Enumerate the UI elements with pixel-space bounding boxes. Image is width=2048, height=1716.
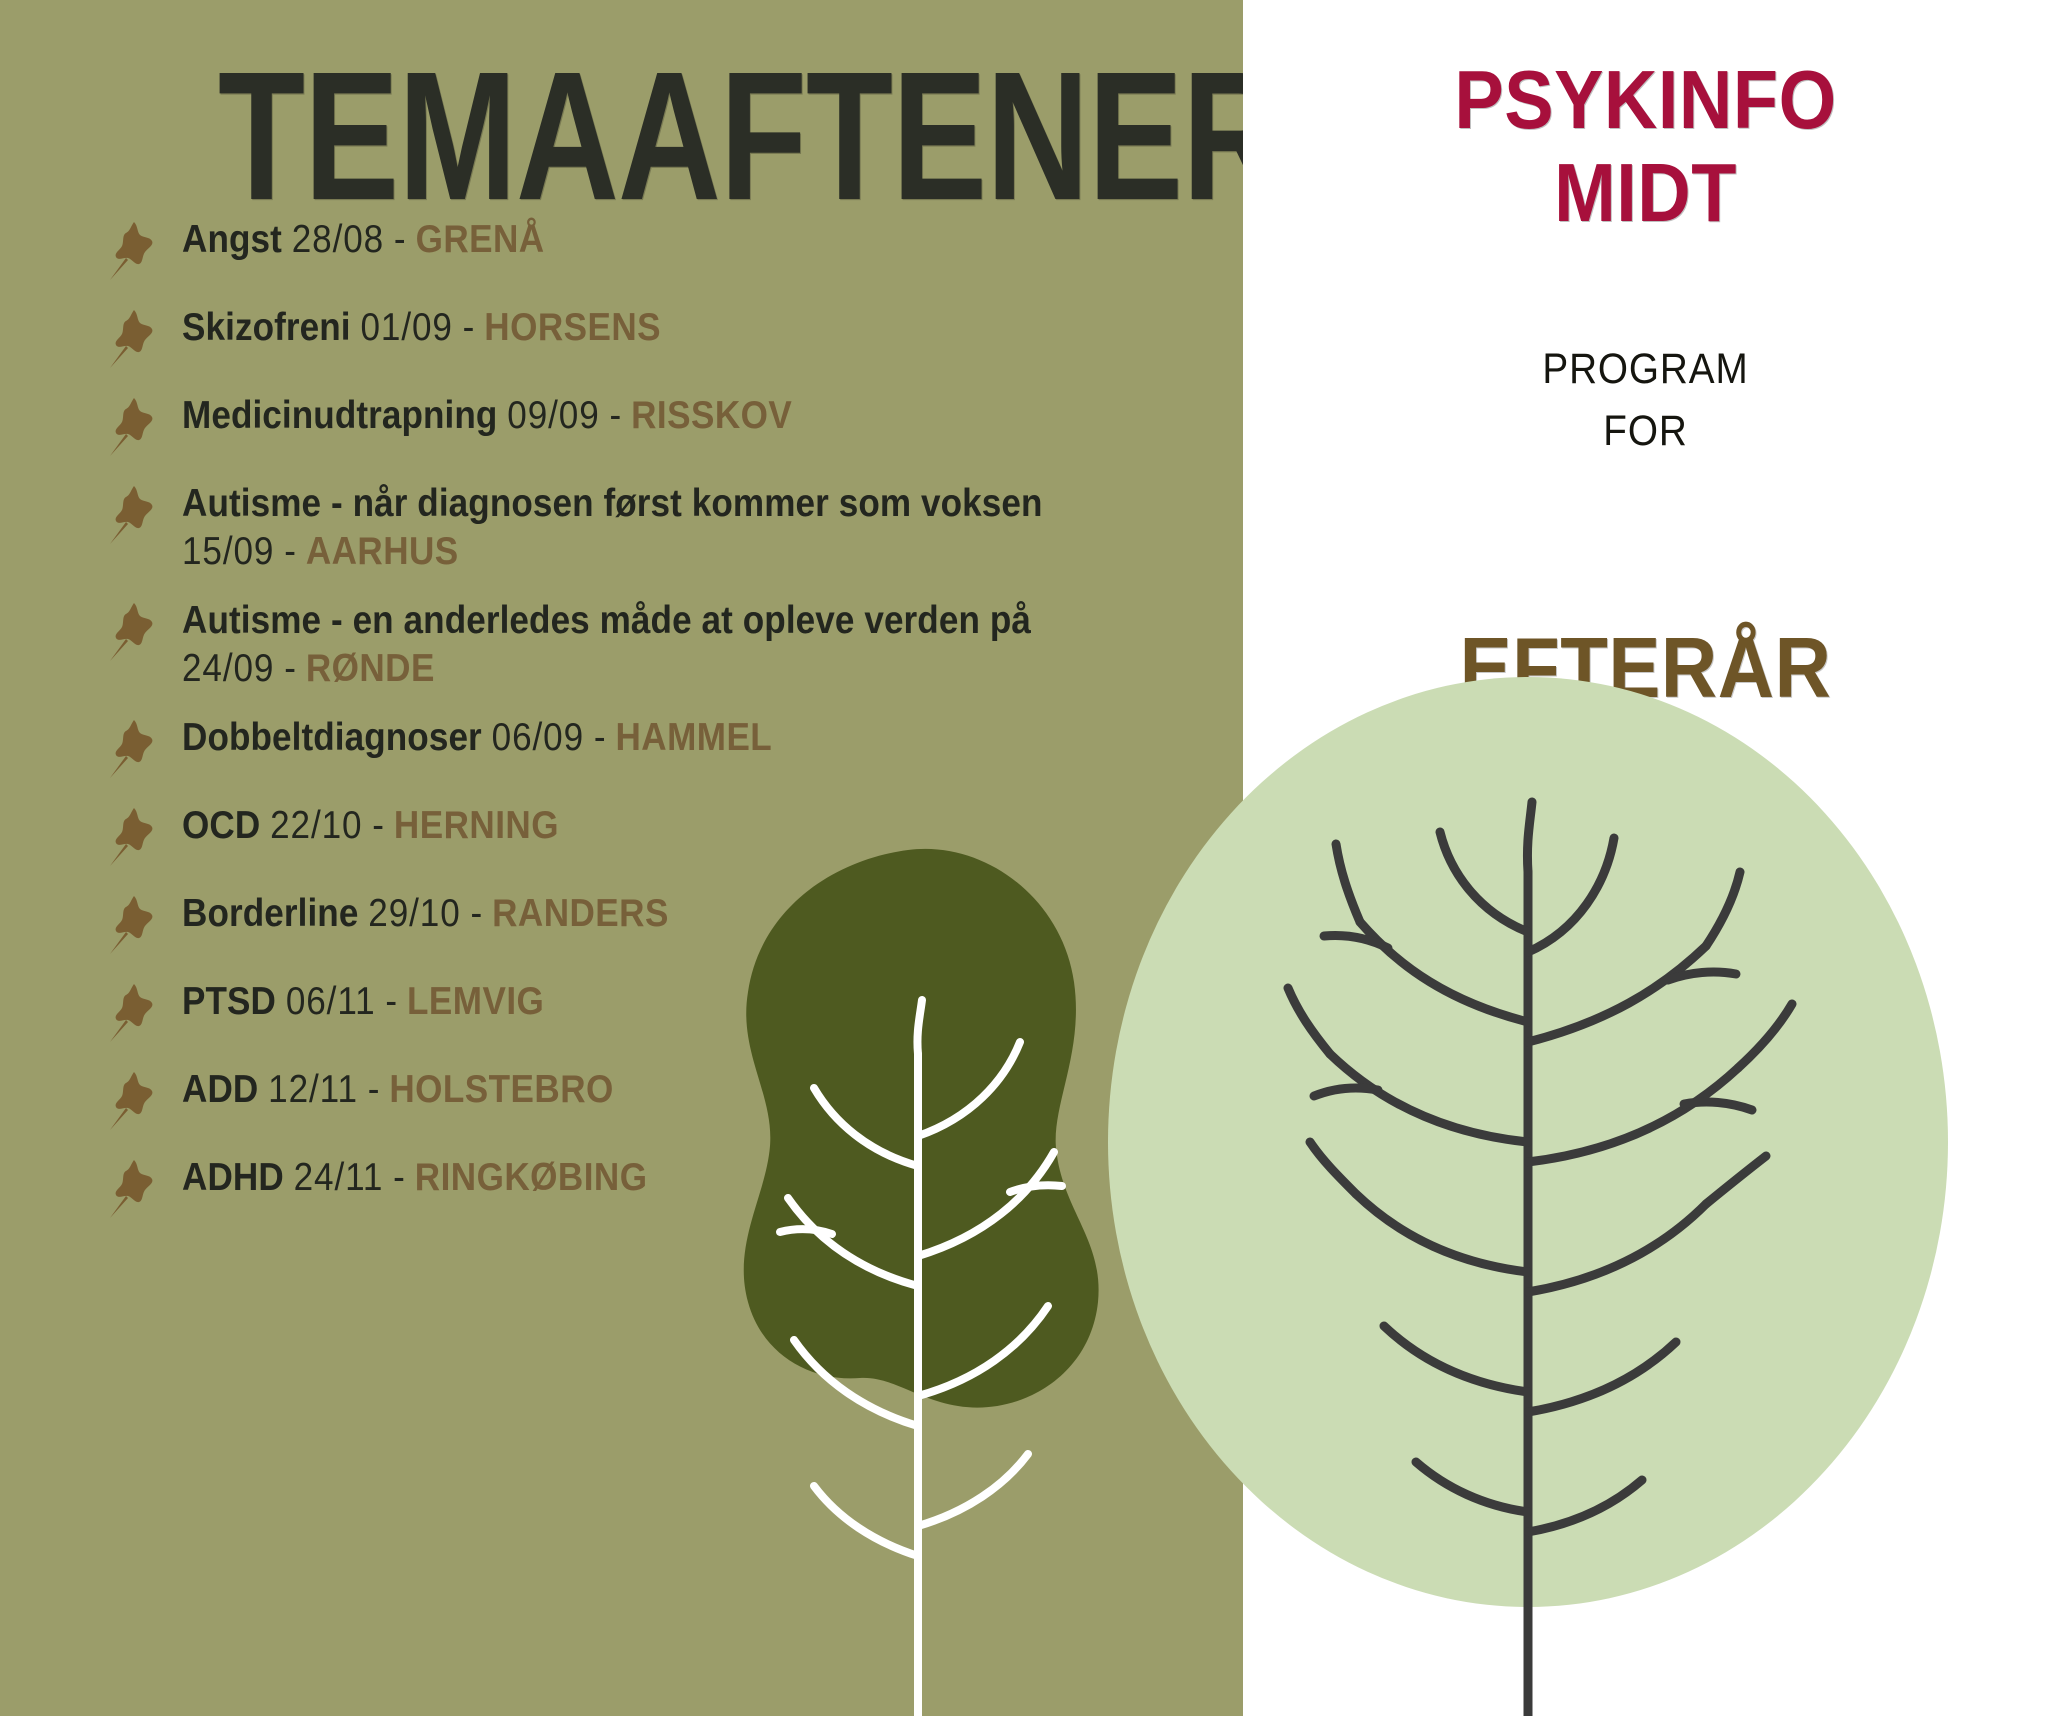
event-city: RINGKØBING: [415, 1156, 648, 1199]
event-separator: -: [385, 980, 397, 1023]
event-city: HORSENS: [484, 306, 661, 349]
event-topic: ADD: [182, 1068, 258, 1111]
event-date: 22/10: [270, 804, 362, 847]
event-separator: -: [463, 306, 475, 349]
event-separator: -: [284, 530, 296, 573]
event-list: Angst 28/08 - GRENÅ Skizofreni 01/09 - H…: [104, 216, 1224, 1242]
list-item[interactable]: OCD 22/10 - HERNING: [104, 802, 1224, 868]
event-date: 29/10: [368, 892, 460, 935]
pushpin-icon: [104, 308, 160, 370]
event-city: HERNING: [394, 804, 559, 847]
event-date: 06/11: [286, 980, 376, 1023]
event-city: GRENÅ: [416, 218, 545, 261]
brand-line-2: MIDT: [1243, 147, 2048, 240]
pushpin-icon: [104, 601, 160, 663]
program-subtitle: PROGRAM FOR: [1283, 338, 2008, 463]
event-topic: ADHD: [182, 1156, 284, 1199]
event-text: OCD 22/10 - HERNING: [182, 802, 1120, 850]
page-title: TEMAAFTENER: [218, 44, 1243, 227]
program-line-1: PROGRAM: [1542, 345, 1748, 393]
event-topic: Angst: [182, 218, 282, 261]
event-text: Angst 28/08 - GRENÅ: [182, 216, 1120, 264]
event-text: Dobbeltdiagnoser 06/09 - HAMMEL: [182, 714, 1120, 762]
event-separator: -: [610, 394, 622, 437]
event-separator: -: [470, 892, 482, 935]
event-separator: -: [372, 804, 384, 847]
event-text: Autisme - en anderledes måde at opleve v…: [182, 597, 1120, 692]
pushpin-icon: [104, 220, 160, 282]
left-content-panel: TEMAAFTENER Angst 28/08 - GRENÅ: [0, 0, 1243, 1716]
event-separator: -: [393, 1156, 405, 1199]
list-item[interactable]: PTSD 06/11 - LEMVIG: [104, 978, 1224, 1044]
event-city: HAMMEL: [615, 716, 772, 759]
event-topic: Autisme - en anderledes måde at opleve v…: [182, 599, 1031, 642]
season-label: EFTERÅR 2025: [1243, 620, 2048, 812]
pushpin-icon: [104, 806, 160, 868]
list-item[interactable]: Dobbeltdiagnoser 06/09 - HAMMEL: [104, 714, 1224, 780]
program-line-2: FOR: [1283, 400, 2008, 462]
pushpin-icon: [104, 894, 160, 956]
event-date: 01/09: [360, 306, 452, 349]
event-topic: Medicinudtrapning: [182, 394, 497, 437]
event-text: PTSD 06/11 - LEMVIG: [182, 978, 1120, 1026]
event-topic: Dobbeltdiagnoser: [182, 716, 482, 759]
event-city: RISSKOV: [631, 394, 792, 437]
event-date: 06/09: [492, 716, 584, 759]
event-topic: PTSD: [182, 980, 276, 1023]
event-city: LEMVIG: [407, 980, 544, 1023]
list-item[interactable]: Autisme - en anderledes måde at opleve v…: [104, 597, 1224, 692]
event-topic: Autisme - når diagnosen først kommer som…: [182, 482, 1042, 525]
event-topic: OCD: [182, 804, 260, 847]
event-text: Autisme - når diagnosen først kommer som…: [182, 480, 1120, 575]
season-line-1: EFTERÅR: [1460, 619, 1832, 716]
event-text: Skizofreni 01/09 - HORSENS: [182, 304, 1120, 352]
event-separator: -: [284, 647, 296, 690]
event-date: 24/11: [294, 1156, 384, 1199]
event-date: 12/11: [268, 1068, 358, 1111]
list-item[interactable]: Skizofreni 01/09 - HORSENS: [104, 304, 1224, 370]
event-date: 28/08: [292, 218, 384, 261]
list-item[interactable]: ADD 12/11 - HOLSTEBRO: [104, 1066, 1224, 1132]
event-topic: Borderline: [182, 892, 358, 935]
right-sidebar-panel: PSYKINFO MIDT PROGRAM FOR EFTERÅR 2025: [1243, 0, 2048, 1716]
list-item[interactable]: Medicinudtrapning 09/09 - RISSKOV: [104, 392, 1224, 458]
pushpin-icon: [104, 484, 160, 546]
event-date: 15/09: [182, 530, 274, 573]
event-city: RØNDE: [306, 647, 435, 690]
pushpin-icon: [104, 718, 160, 780]
pushpin-icon: [104, 396, 160, 458]
event-date: 09/09: [507, 394, 599, 437]
event-text: ADD 12/11 - HOLSTEBRO: [182, 1066, 1120, 1114]
list-item[interactable]: ADHD 24/11 - RINGKØBING: [104, 1154, 1224, 1220]
event-separator: -: [394, 218, 406, 261]
event-city: HOLSTEBRO: [389, 1068, 613, 1111]
brand-logo: PSYKINFO MIDT: [1243, 54, 2048, 240]
list-item[interactable]: Borderline 29/10 - RANDERS: [104, 890, 1224, 956]
event-topic: Skizofreni: [182, 306, 351, 349]
list-item[interactable]: Autisme - når diagnosen først kommer som…: [104, 480, 1224, 575]
event-city: AARHUS: [306, 530, 459, 573]
season-line-2: 2025: [1243, 716, 2048, 812]
event-city: RANDERS: [492, 892, 669, 935]
pushpin-icon: [104, 982, 160, 1044]
event-separator: -: [368, 1068, 380, 1111]
pushpin-icon: [104, 1070, 160, 1132]
event-date: 24/09: [182, 647, 274, 690]
event-text: ADHD 24/11 - RINGKØBING: [182, 1154, 1120, 1202]
list-item[interactable]: Angst 28/08 - GRENÅ: [104, 216, 1224, 282]
poster-root: TEMAAFTENER Angst 28/08 - GRENÅ: [0, 0, 2048, 1716]
event-separator: -: [594, 716, 606, 759]
event-text: Medicinudtrapning 09/09 - RISSKOV: [182, 392, 1120, 440]
pushpin-icon: [104, 1158, 160, 1220]
brand-line-1: PSYKINFO: [1454, 53, 1836, 146]
event-text: Borderline 29/10 - RANDERS: [182, 890, 1120, 938]
